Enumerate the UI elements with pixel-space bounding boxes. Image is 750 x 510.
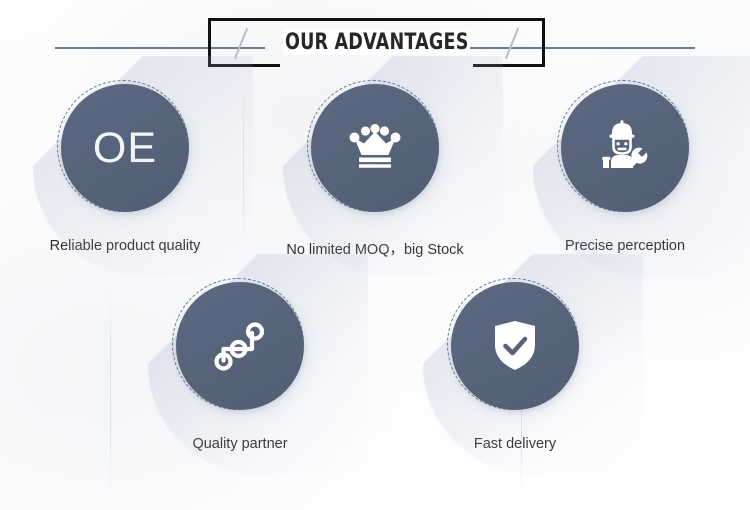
advantages-grid: OE Reliable product quality <box>0 84 750 510</box>
advantage-badge <box>561 84 689 212</box>
advantages-banner: OUR ADVANTAGES OE Reliable product quali… <box>0 0 750 510</box>
advantage-caption: Quality partner <box>115 436 365 452</box>
advantage-caption: Precise perception <box>500 238 750 254</box>
advantage-badge: OE <box>61 84 189 212</box>
advantage-caption: No limited MOQ，big Stock <box>250 238 500 259</box>
advantage-card-reliable-product-quality[interactable]: OE Reliable product quality <box>0 84 250 254</box>
mechanic-icon <box>598 120 652 176</box>
crown-icon <box>349 124 401 172</box>
advantage-badge <box>451 282 579 410</box>
section-header: OUR ADVANTAGES <box>0 0 750 84</box>
header-title-group: OUR ADVANTAGES <box>208 18 545 67</box>
advantage-caption: Fast delivery <box>390 436 640 452</box>
advantage-card-quality-partner[interactable]: Quality partner <box>115 282 365 452</box>
advantage-card-no-limited-moq[interactable]: No limited MOQ，big Stock <box>250 84 500 259</box>
badge-disc <box>311 84 439 212</box>
page-title: OUR ADVANTAGES <box>283 30 470 55</box>
advantage-card-precise-perception[interactable]: Precise perception <box>500 84 750 254</box>
badge-disc <box>176 282 304 410</box>
slash-decoration-left-icon <box>231 28 251 58</box>
badge-disc <box>561 84 689 212</box>
shield-check-icon <box>491 319 539 373</box>
advantage-badge <box>311 84 439 212</box>
network-nodes-icon <box>212 319 268 373</box>
advantage-caption: Reliable product quality <box>0 238 250 254</box>
oe-text-icon: OE <box>93 127 157 170</box>
advantage-badge <box>176 282 304 410</box>
advantage-card-fast-delivery[interactable]: Fast delivery <box>390 282 640 452</box>
badge-disc <box>451 282 579 410</box>
slash-decoration-right-icon <box>502 28 522 58</box>
badge-disc: OE <box>61 84 189 212</box>
